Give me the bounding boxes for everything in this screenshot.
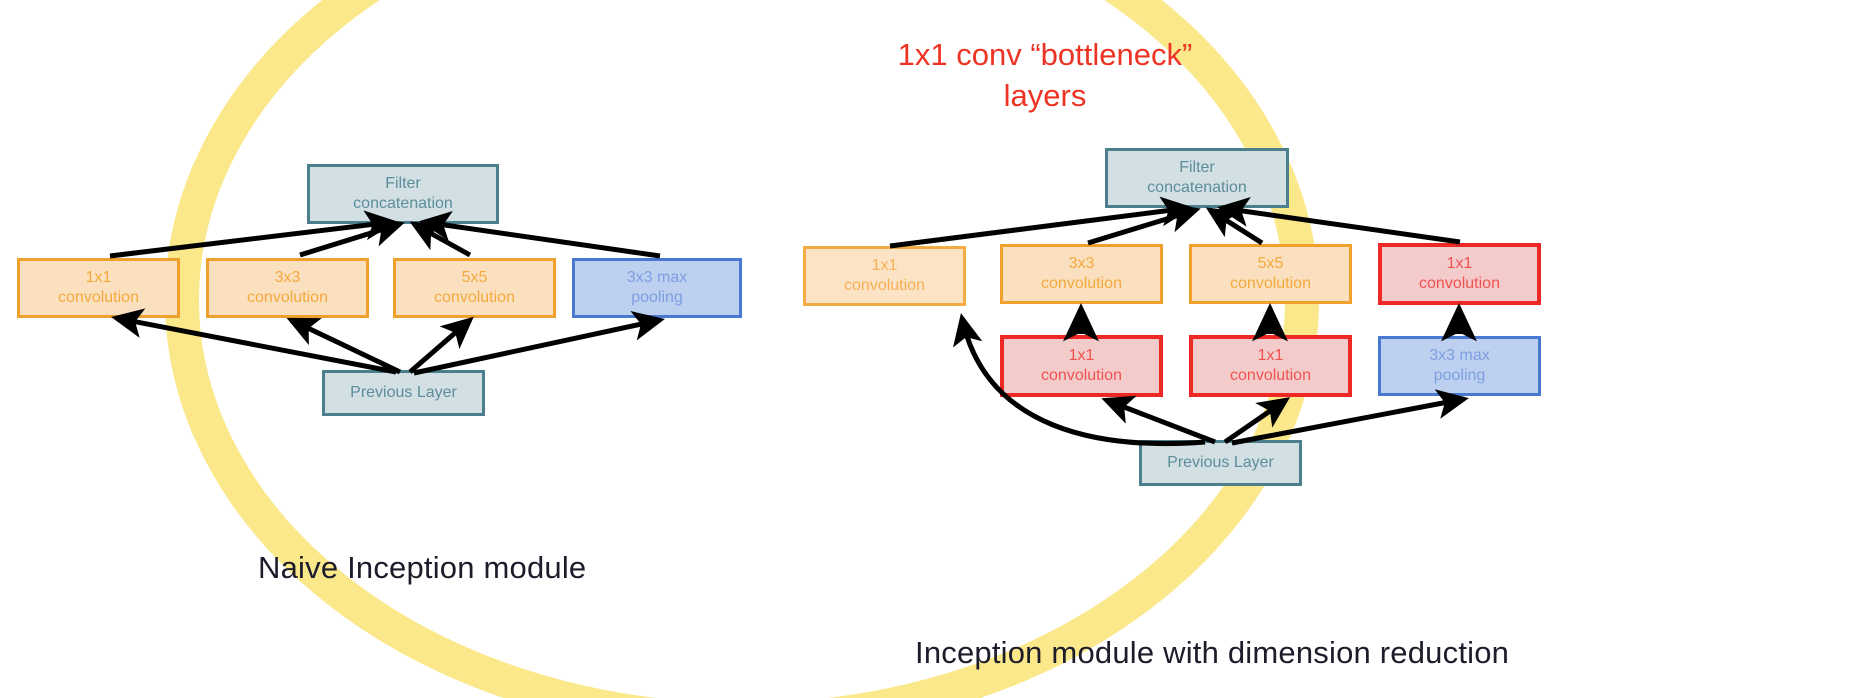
slide-canvas: Filter concatenation 1x1 convolution 3x3…	[0, 0, 1876, 698]
naive-module-caption: Naive Inception module	[258, 550, 586, 586]
bottleneck-annotation-title: 1x1 conv “bottleneck” layers	[840, 34, 1250, 116]
reduction-module-caption: Inception module with dimension reductio…	[915, 635, 1509, 671]
